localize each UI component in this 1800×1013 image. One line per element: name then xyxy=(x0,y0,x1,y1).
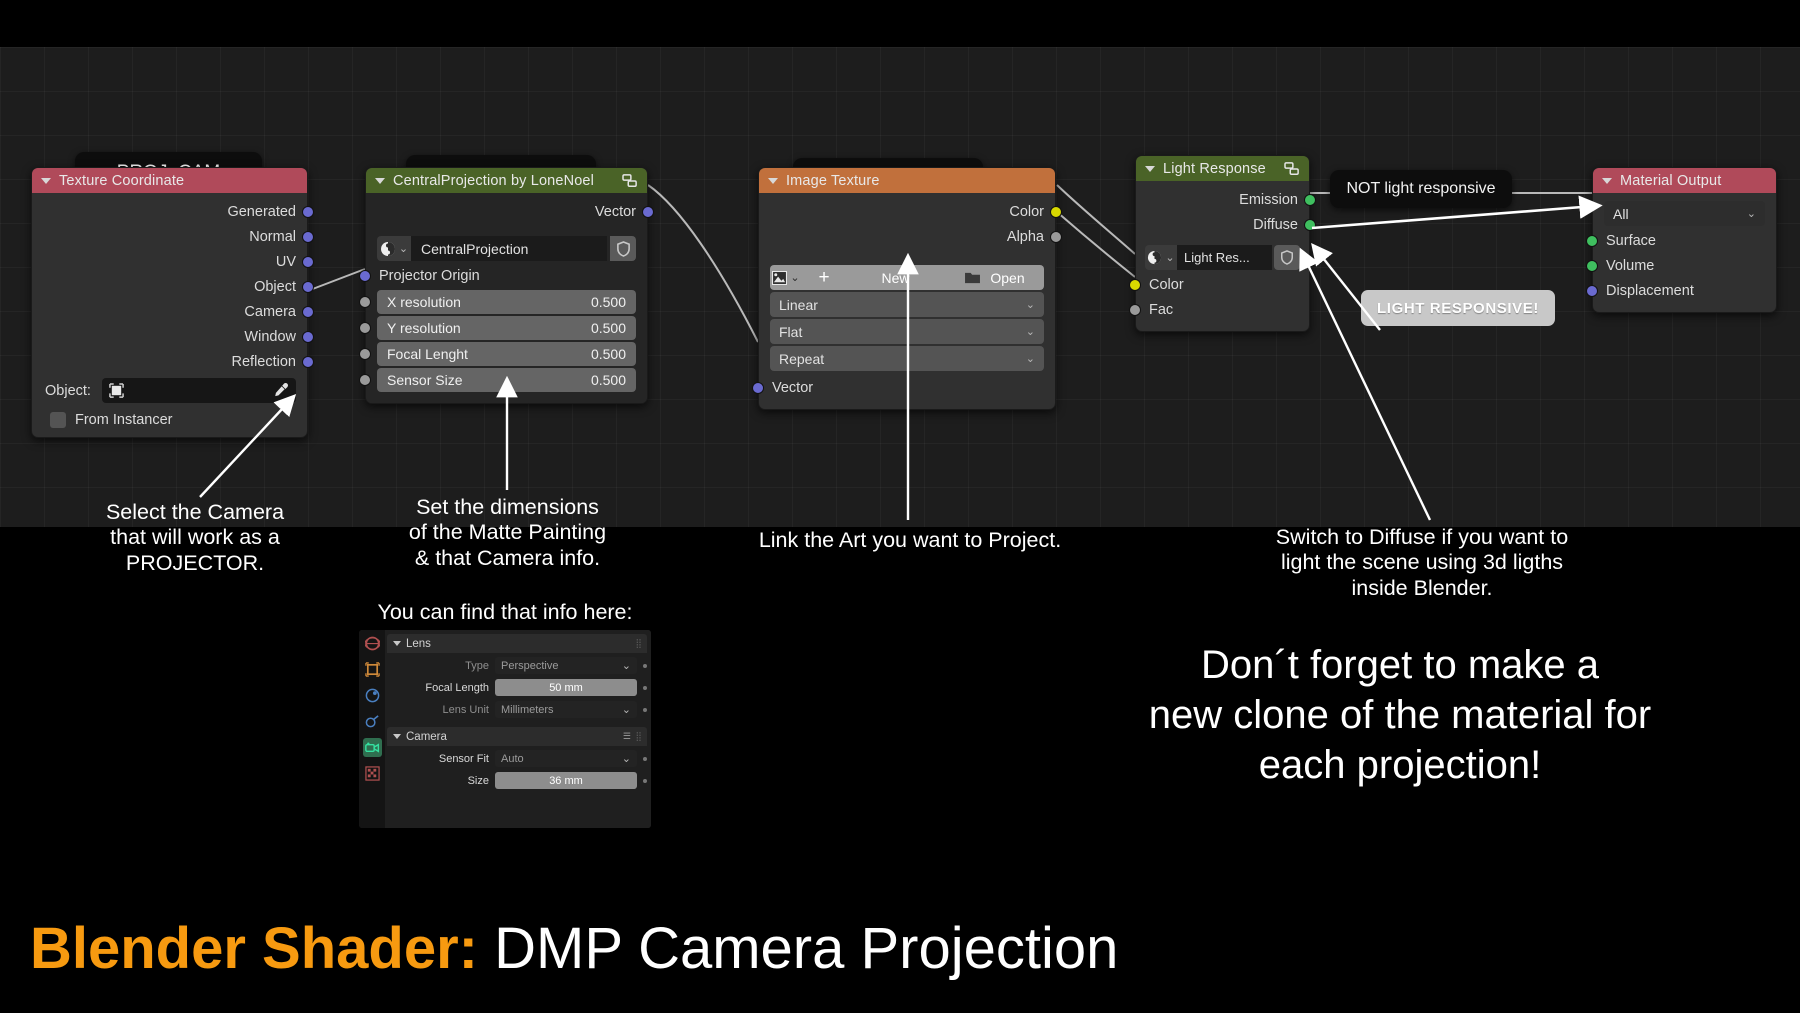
collapse-triangle-icon[interactable] xyxy=(393,641,401,646)
annot-line: inside Blender. xyxy=(1262,576,1582,601)
output-window[interactable]: Window xyxy=(32,324,307,349)
socket-label: Vector xyxy=(595,204,636,220)
drag-handle-icon[interactable]: ⣿ xyxy=(635,731,643,742)
collapse-triangle-icon[interactable] xyxy=(393,734,401,739)
row-sensor-fit[interactable]: Sensor Fit Auto ⌄ xyxy=(387,749,647,768)
open-label: Open xyxy=(990,270,1024,286)
node-header-central-projection[interactable]: CentralProjection by LoneNoel xyxy=(366,168,647,193)
node-header-texture-coordinate[interactable]: Texture Coordinate xyxy=(32,168,307,193)
collapse-triangle-icon[interactable] xyxy=(41,178,51,184)
socket-dot-vector[interactable] xyxy=(302,256,314,268)
title-rest: DMP Camera Projection xyxy=(478,916,1118,981)
camera-data-properties-tab[interactable] xyxy=(363,738,382,757)
node-header-material-output[interactable]: Material Output xyxy=(1593,168,1776,193)
node-body: Generated Normal UV Object Camera Window xyxy=(32,193,307,437)
node-group-selector[interactable]: ⌄ Light Res... xyxy=(1145,245,1300,270)
socket-dot-color[interactable] xyxy=(1129,279,1141,291)
annot-switch-diffuse: Switch to Diffuse if you want to light t… xyxy=(1262,525,1582,601)
socket-dot-shader[interactable] xyxy=(1304,194,1316,206)
frame-label-text: NOT light responsive xyxy=(1346,180,1495,198)
output-camera[interactable]: Camera xyxy=(32,299,307,324)
param-sensor-size[interactable]: Sensor Size 0.500 xyxy=(377,368,636,392)
row-label: Lens Unit xyxy=(387,704,489,716)
socket-dot-shader[interactable] xyxy=(1586,235,1598,247)
output-emission[interactable]: Emission xyxy=(1136,187,1309,212)
output-diffuse[interactable]: Diffuse xyxy=(1136,212,1309,237)
interpolation-dropdown[interactable]: Linear ⌄ xyxy=(770,292,1044,317)
row-value: 50 mm xyxy=(549,682,583,694)
node-title: Image Texture xyxy=(786,173,880,189)
param-value: 0.500 xyxy=(591,294,626,310)
socket-dot-color[interactable] xyxy=(1050,206,1062,218)
socket-label: Object xyxy=(254,279,296,295)
output-alpha[interactable]: Alpha xyxy=(759,224,1055,249)
socket-dot-value[interactable] xyxy=(1050,231,1062,243)
chevron-down-icon[interactable]: ⌄ xyxy=(1026,298,1035,311)
chevron-down-icon[interactable]: ⌄ xyxy=(622,703,631,716)
socket-label: Color xyxy=(1009,204,1044,220)
chevron-down-icon[interactable]: ⌄ xyxy=(1165,251,1174,264)
drag-handle-icon[interactable]: ⣿ xyxy=(635,638,643,649)
socket-dot-value[interactable] xyxy=(359,374,371,386)
fake-user-shield-icon[interactable] xyxy=(610,236,636,261)
socket-label: Reflection xyxy=(232,354,296,370)
annot-line: that will work as a xyxy=(90,525,300,550)
socket-dot-vector[interactable] xyxy=(302,281,314,293)
row-value-slider[interactable]: 50 mm xyxy=(495,679,637,696)
chevron-down-icon[interactable]: ⌄ xyxy=(399,242,408,255)
output-object[interactable]: Object xyxy=(32,274,307,299)
socket-dot-vector[interactable] xyxy=(752,382,764,394)
panel-title: Lens xyxy=(406,638,431,650)
chevron-down-icon[interactable]: ⌄ xyxy=(622,659,631,672)
annot-line: Set the dimensions xyxy=(385,495,630,520)
row-size[interactable]: Size 36 mm xyxy=(387,771,647,790)
socket-label: Generated xyxy=(227,204,296,220)
output-color[interactable]: Color xyxy=(759,199,1055,224)
socket-label: Diffuse xyxy=(1253,217,1298,233)
pill-light-responsive[interactable]: LIGHT RESPONSIVE! xyxy=(1361,290,1555,326)
node-header-image-texture[interactable]: Image Texture xyxy=(759,168,1055,193)
new-image-plus-button[interactable]: + xyxy=(802,265,846,290)
chevron-down-icon[interactable]: ⌄ xyxy=(622,752,631,765)
socket-dot-value[interactable] xyxy=(1129,304,1141,316)
page-title: Blender Shader: DMP Camera Projection xyxy=(30,915,1118,982)
row-focal-length[interactable]: Focal Length 50 mm xyxy=(387,678,647,697)
annot-find-info: You can find that info here: xyxy=(355,600,655,625)
input-vector[interactable]: Vector xyxy=(759,375,1055,400)
socket-dot-vector[interactable] xyxy=(302,231,314,243)
row-label: Focal Length xyxy=(387,682,489,694)
group-datablock-icon[interactable]: ⌄ xyxy=(1145,245,1177,270)
socket-dot-value[interactable] xyxy=(359,296,371,308)
node-light-response[interactable]: Light Response Emission Diffuse xyxy=(1135,155,1310,332)
output-generated[interactable]: Generated xyxy=(32,199,307,224)
open-image-button[interactable]: Open xyxy=(945,265,1044,290)
animate-dot-icon[interactable] xyxy=(643,686,647,690)
input-surface[interactable]: Surface xyxy=(1593,228,1776,253)
param-label: Y resolution xyxy=(387,320,461,336)
annot-line: Switch to Diffuse if you want to xyxy=(1262,525,1582,550)
annot-line: Don´t forget to make a xyxy=(1070,640,1730,690)
node-title: Light Response xyxy=(1163,161,1266,177)
annot-clone-material: Don´t forget to make a new clone of the … xyxy=(1070,640,1730,790)
eyedropper-icon[interactable] xyxy=(272,382,289,399)
socket-dot-vector[interactable] xyxy=(302,306,314,318)
socket-label: Alpha xyxy=(1007,229,1044,245)
image-datablock-row[interactable]: ⌄ + New Open xyxy=(770,265,1044,290)
node-group-icon[interactable] xyxy=(621,173,638,188)
node-material-output[interactable]: Material Output All ⌄ Surface Volume Dis… xyxy=(1592,167,1777,313)
annot-line: each projection! xyxy=(1070,740,1730,790)
presets-list-icon[interactable]: ☰ xyxy=(623,731,631,742)
input-projector-origin[interactable]: Projector Origin xyxy=(366,263,647,288)
top-letterbox xyxy=(0,0,1800,47)
socket-dot-shader[interactable] xyxy=(1304,219,1316,231)
row-value: 36 mm xyxy=(549,775,583,787)
annot-line: & that Camera info. xyxy=(385,546,630,571)
frame-label-not-light-responsive[interactable]: NOT light responsive xyxy=(1330,170,1512,208)
annot-select-camera: Select the Camera that will work as a PR… xyxy=(90,500,300,576)
title-accent: Blender Shader: xyxy=(30,916,478,981)
socket-label: Fac xyxy=(1149,302,1173,318)
param-value: 0.500 xyxy=(591,320,626,336)
annot-set-dimensions: Set the dimensions of the Matte Painting… xyxy=(385,495,630,571)
socket-dot-vector[interactable] xyxy=(642,206,654,218)
interpolation-value: Linear xyxy=(779,297,818,313)
param-value: 0.500 xyxy=(591,372,626,388)
from-instancer-label: From Instancer xyxy=(75,412,173,428)
node-body: Color Alpha ⌄ + New xyxy=(759,193,1055,409)
object-label: Object: xyxy=(32,383,91,399)
node-title: CentralProjection by LoneNoel xyxy=(393,173,594,189)
row-value-dropdown[interactable]: Auto ⌄ xyxy=(495,750,637,767)
object-selector-row[interactable]: Object: xyxy=(32,374,307,403)
animate-dot-icon[interactable] xyxy=(643,779,647,783)
param-value: 0.500 xyxy=(591,346,626,362)
socket-label: Normal xyxy=(249,229,296,245)
row-lens-unit[interactable]: Lens Unit Millimeters ⌄ xyxy=(387,700,647,719)
collapse-triangle-icon[interactable] xyxy=(1145,166,1155,172)
object-field[interactable] xyxy=(102,378,296,403)
socket-dot-vector[interactable] xyxy=(302,206,314,218)
socket-dot-vector[interactable] xyxy=(302,331,314,343)
row-value: Millimeters xyxy=(501,704,554,716)
node-body: Emission Diffuse ⌄ Light Res. xyxy=(1136,181,1309,331)
param-focal-lenght[interactable]: Focal Lenght 0.500 xyxy=(377,342,636,366)
chevron-down-icon[interactable]: ⌄ xyxy=(1026,325,1035,338)
target-dropdown[interactable]: All ⌄ xyxy=(1604,201,1765,226)
extension-value: Repeat xyxy=(779,351,824,367)
row-value-slider[interactable]: 36 mm xyxy=(495,772,637,789)
socket-label: Projector Origin xyxy=(379,268,480,284)
socket-label: Color xyxy=(1149,277,1184,293)
node-central-projection[interactable]: CentralProjection by LoneNoel Vector xyxy=(365,167,648,404)
row-label: Type xyxy=(387,660,489,672)
node-header-light-response[interactable]: Light Response xyxy=(1136,156,1309,181)
camera-properties-panel[interactable]: Lens ⣿ Type Perspective ⌄ Focal Length 5… xyxy=(359,630,651,828)
socket-dot-shader[interactable] xyxy=(1586,260,1598,272)
annot-line: You can find that info here: xyxy=(355,600,655,625)
input-fac[interactable]: Fac xyxy=(1136,297,1309,322)
node-group-selector[interactable]: ⌄ CentralProjection xyxy=(377,236,636,261)
physics-properties-tab[interactable] xyxy=(363,686,382,705)
projection-dropdown[interactable]: Flat ⌄ xyxy=(770,319,1044,344)
row-value-dropdown[interactable]: Millimeters ⌄ xyxy=(495,701,637,718)
socket-dot-vector[interactable] xyxy=(1586,285,1598,297)
output-uv[interactable]: UV xyxy=(32,249,307,274)
socket-dot-vector[interactable] xyxy=(302,356,314,368)
param-label: Focal Lenght xyxy=(387,346,468,362)
socket-label: Surface xyxy=(1606,233,1656,249)
folder-icon xyxy=(964,271,981,285)
annot-line: Select the Camera xyxy=(90,500,300,525)
annot-link-art: Link the Art you want to Project. xyxy=(740,528,1080,553)
object-icon xyxy=(109,383,124,398)
param-y-resolution[interactable]: Y resolution 0.500 xyxy=(377,316,636,340)
param-label: X resolution xyxy=(387,294,461,310)
chevron-down-icon[interactable]: ⌄ xyxy=(1747,207,1756,220)
node-title: Texture Coordinate xyxy=(59,173,184,189)
group-name-field[interactable]: CentralProjection xyxy=(411,236,607,261)
socket-label: UV xyxy=(276,254,296,270)
row-value: Perspective xyxy=(501,660,558,672)
image-datablock-icon[interactable]: ⌄ xyxy=(770,265,802,290)
properties-content: Lens ⣿ Type Perspective ⌄ Focal Length 5… xyxy=(385,630,651,828)
animate-dot-icon[interactable] xyxy=(643,757,647,761)
extension-dropdown[interactable]: Repeat ⌄ xyxy=(770,346,1044,371)
param-x-resolution[interactable]: X resolution 0.500 xyxy=(377,290,636,314)
row-type[interactable]: Type Perspective ⌄ xyxy=(387,656,647,675)
new-image-button[interactable]: New xyxy=(846,265,945,290)
chevron-down-icon[interactable]: ⌄ xyxy=(1026,352,1035,365)
annot-line: of the Matte Painting xyxy=(385,520,630,545)
node-body: Vector ⌄ CentralProjection xyxy=(366,193,647,403)
socket-dot-value[interactable] xyxy=(359,348,371,360)
annot-line: new clone of the material for xyxy=(1070,690,1730,740)
chevron-down-icon[interactable]: ⌄ xyxy=(790,271,799,284)
socket-label: Emission xyxy=(1239,192,1298,208)
node-group-icon[interactable] xyxy=(1283,161,1300,176)
collapse-triangle-icon[interactable] xyxy=(768,178,778,184)
render-properties-tab[interactable] xyxy=(363,634,382,653)
node-body: All ⌄ Surface Volume Displacement xyxy=(1593,193,1776,312)
socket-label: Window xyxy=(244,329,296,345)
node-image-texture[interactable]: Image Texture Color Alpha ⌄ xyxy=(758,167,1056,410)
object-properties-tab[interactable] xyxy=(363,660,382,679)
animate-dot-icon[interactable] xyxy=(643,708,647,712)
param-label: Sensor Size xyxy=(387,372,462,388)
annot-line: PROJECTOR. xyxy=(90,551,300,576)
annot-line: Link the Art you want to Project. xyxy=(740,528,1080,553)
group-datablock-icon[interactable]: ⌄ xyxy=(377,236,411,261)
collapse-triangle-icon[interactable] xyxy=(1602,178,1612,184)
input-color[interactable]: Color xyxy=(1136,272,1309,297)
annot-line: light the scene using 3d ligths xyxy=(1262,550,1582,575)
row-label: Size xyxy=(387,775,489,787)
output-normal[interactable]: Normal xyxy=(32,224,307,249)
socket-label: Volume xyxy=(1606,258,1654,274)
projection-value: Flat xyxy=(779,324,802,340)
output-vector[interactable]: Vector xyxy=(366,199,647,224)
panel-title: Camera xyxy=(406,731,447,743)
animate-dot-icon[interactable] xyxy=(643,664,647,668)
camera-panel-header[interactable]: Camera ☰ ⣿ xyxy=(387,727,647,746)
row-value-dropdown[interactable]: Perspective ⌄ xyxy=(495,657,637,674)
input-displacement[interactable]: Displacement xyxy=(1593,278,1776,303)
fake-user-shield-icon[interactable] xyxy=(1274,245,1300,270)
target-value: All xyxy=(1613,206,1629,222)
constraint-properties-tab[interactable] xyxy=(363,712,382,731)
socket-label: Displacement xyxy=(1606,283,1694,299)
output-reflection[interactable]: Reflection xyxy=(32,349,307,374)
row-value: Auto xyxy=(501,753,524,765)
from-instancer-row[interactable]: From Instancer xyxy=(32,403,307,428)
texture-properties-tab[interactable] xyxy=(363,764,382,783)
socket-dot-vector[interactable] xyxy=(359,270,371,282)
lens-panel-header[interactable]: Lens ⣿ xyxy=(387,634,647,653)
socket-dot-value[interactable] xyxy=(359,322,371,334)
group-name-field[interactable]: Light Res... xyxy=(1177,245,1272,270)
node-title: Material Output xyxy=(1620,173,1721,189)
properties-tab-strip[interactable] xyxy=(359,630,385,828)
socket-label: Camera xyxy=(244,304,296,320)
collapse-triangle-icon[interactable] xyxy=(375,178,385,184)
node-texture-coordinate[interactable]: Texture Coordinate Generated Normal UV O… xyxy=(31,167,308,438)
pill-label: LIGHT RESPONSIVE! xyxy=(1377,300,1539,317)
from-instancer-checkbox[interactable] xyxy=(50,412,66,428)
row-label: Sensor Fit xyxy=(387,753,489,765)
input-volume[interactable]: Volume xyxy=(1593,253,1776,278)
socket-label: Vector xyxy=(772,380,813,396)
